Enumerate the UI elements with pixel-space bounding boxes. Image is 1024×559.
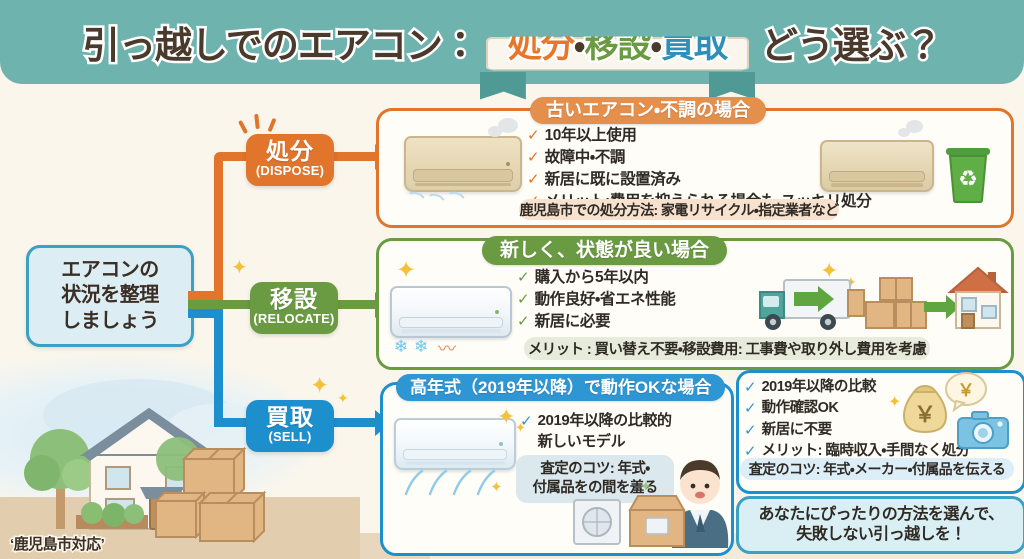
check-icon: ✓	[517, 268, 530, 288]
connector-dispose-vertical	[214, 152, 223, 300]
check-icon: ✓	[527, 170, 540, 190]
connector-sell-stub	[188, 309, 214, 318]
snowflake-icon-2: ❄	[414, 337, 428, 357]
title-sep-1: ・	[574, 27, 585, 65]
check-icon: ✓	[527, 148, 540, 168]
check-text: 新しいモデル	[538, 433, 626, 452]
appliance-and-box-illustration	[572, 490, 692, 550]
ribbon-body: 処分・移設・買取	[486, 37, 749, 71]
branch-label-jp-relocate: 移設	[250, 287, 338, 311]
title-word-sell: 買取	[661, 27, 727, 65]
moving-boxes-illustration	[150, 443, 280, 548]
sparkle-icon-sell-card-3: ✦	[490, 478, 503, 496]
title-left-text: 引っ越しでのエアコン：	[83, 15, 478, 69]
arrow-to-sell-card	[334, 418, 376, 427]
sparkle-icon-sell-card-1: ✦	[497, 404, 515, 430]
spark-stroke-2	[254, 114, 260, 129]
arrow-to-relocate-card	[338, 300, 376, 309]
svg-text:￥: ￥	[958, 381, 975, 401]
destination-house-icon	[946, 262, 1010, 332]
moving-truck-illustration	[756, 278, 866, 334]
sparkle-icon-relocate-card: ✦	[396, 256, 416, 285]
ribbon-tail-right	[709, 72, 755, 100]
check-text: 新居に必要	[535, 312, 611, 333]
start-box: エアコンの状況を整理しましょう	[26, 245, 194, 347]
title-sep-2: ・	[650, 27, 661, 65]
connector-dispose-stub	[188, 291, 214, 300]
branch-pill-relocate[interactable]: 移設 (RELOCATE)	[250, 282, 338, 334]
branch-label-jp-sell: 買取	[246, 405, 334, 429]
svg-text:♻: ♻	[958, 167, 978, 192]
checklist-sell: ✓2019年以降の比較的 ✓新しいモデル	[520, 412, 672, 455]
branch-pill-sell[interactable]: 買取 (SELL)	[246, 400, 334, 452]
check-text: 2019年以降の比較	[762, 378, 876, 398]
title-word-relocate: 移設	[584, 27, 650, 65]
card-header-relocate: 新しく、状態が良い場合	[482, 236, 727, 265]
title-right-text: どう選ぶ？	[761, 15, 941, 69]
arrow-to-dispose-card	[334, 152, 376, 161]
sparkle-icon-sell-1: ✦	[310, 372, 329, 399]
branch-label-jp-dispose: 処分	[246, 139, 334, 163]
air-conditioner-new-relocate	[390, 286, 512, 338]
card-header-sell: 高年式（2019年以降）で動作OKな場合	[396, 374, 725, 401]
conclusion-box: あなたにぴったりの方法を選んで、 失敗しない引っ越しを！	[736, 496, 1024, 554]
yen-speech-bubble-icon: ￥	[944, 372, 988, 412]
check-text: 動作確認OK	[762, 399, 839, 419]
camera-icon	[956, 410, 1010, 452]
conclusion-line2: 失敗しない引っ越しを！	[796, 525, 965, 545]
check-item: ✓新しいモデル	[520, 433, 672, 453]
air-conditioner-old-right	[820, 140, 934, 192]
conclusion-line1: あなたにぴったりの方法を選んで、	[759, 505, 1004, 525]
smoke-puff-2	[488, 126, 502, 137]
check-text: 購入から5年以内	[535, 268, 649, 289]
recycle-bin-icon: ♻	[940, 140, 996, 204]
tag-sell-appraisal: 査定のコツ: 年式・メーカー・付属品を伝える	[740, 458, 1014, 480]
check-text: 故障中・不調	[545, 148, 625, 169]
branch-label-en-relocate: (RELOCATE)	[250, 311, 338, 327]
check-icon: ✓	[744, 421, 757, 441]
appraisal-tip-line1: 査定のコツ: 年式・	[540, 460, 649, 479]
snowflake-icon-1: ❄	[394, 337, 408, 357]
check-text: 2019年以降の比較的	[538, 412, 672, 431]
check-text: 動作良好・省エネ性能	[535, 290, 676, 311]
svg-text:￥: ￥	[914, 403, 936, 428]
branch-label-en-sell: (SELL)	[246, 429, 334, 445]
check-icon: ✓	[744, 399, 757, 419]
sparkle-icon-relocate: ✦	[231, 255, 248, 280]
title-ribbon: 処分・移設・買取	[486, 18, 749, 67]
connector-sell-vertical	[214, 309, 223, 427]
checklist-relocate: ✓購入から5年以内 ✓動作良好・省エネ性能 ✓新居に必要	[517, 268, 675, 334]
check-text: 新居に既に設置済み	[545, 170, 681, 191]
smoke-puff-4	[898, 128, 910, 137]
tag-relocate-merit: メリット : 買い替え不要・移設費用: 工事費や取り外し費用を考慮	[524, 337, 930, 360]
infographic-canvas: ‘鹿児島市対応’ 引っ越しでのエアコン： 処分・移設・買取 どう選ぶ？ エアコン…	[0, 0, 1024, 559]
spark-stroke-3	[268, 118, 277, 132]
start-box-label: エアコンの状況を整理しましょう	[61, 258, 159, 335]
check-item: ✓新居に必要	[517, 312, 675, 333]
sparkle-icon-box: ✦	[640, 478, 652, 495]
check-item: ✓2019年以降の比較的	[520, 412, 672, 432]
heat-wave-icon: 〰	[438, 335, 456, 361]
check-icon: ✓	[517, 312, 530, 332]
air-conditioner-old-left	[404, 136, 522, 192]
title-word-dispose: 処分	[508, 27, 574, 65]
check-item: ✓購入から5年以内	[517, 268, 675, 289]
check-text: 10年以上使用	[545, 126, 637, 147]
ribbon-tail-left	[480, 72, 526, 100]
page-title: 引っ越しでのエアコン： 処分・移設・買取 どう選ぶ？	[0, 0, 1024, 84]
check-text: 新居に不要	[762, 421, 832, 441]
tag-dispose-method: 鹿児島市での処分方法: 家電リサイクル・指定業者など	[519, 199, 839, 220]
location-tag: ‘鹿児島市対応’	[10, 533, 104, 554]
sparkle-icon-sell-2: ✦	[337, 390, 349, 407]
card-header-dispose: 古いエアコン・不調の場合	[530, 97, 766, 124]
check-icon: ✓	[520, 412, 533, 432]
check-icon: ✓	[744, 378, 757, 398]
check-icon: ✓	[517, 290, 530, 310]
branch-label-en-dispose: (DISPOSE)	[246, 163, 334, 179]
check-item: ✓動作良好・省エネ性能	[517, 290, 675, 311]
branch-pill-dispose[interactable]: 処分 (DISPOSE)	[246, 134, 334, 186]
check-icon: ✓	[527, 126, 540, 146]
relocate-boxes-illustration	[864, 276, 930, 334]
spark-stroke-1	[238, 120, 248, 134]
